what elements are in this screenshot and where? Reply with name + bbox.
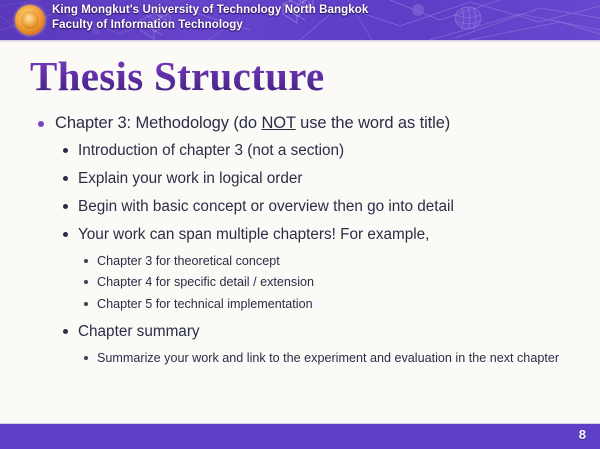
faculty-name: Faculty of Information Technology <box>52 18 368 33</box>
bullet-level2-basic-concept: Begin with basic concept or overview the… <box>0 197 600 217</box>
presentation-slide: King Mongkut's University of Technology … <box>0 0 600 449</box>
bullet-level3-chapter3: Chapter 3 for theoretical concept <box>0 253 600 270</box>
bullet-level2-chapter-summary: Chapter summary <box>0 322 600 342</box>
bullet-text: Chapter 3 for theoretical concept <box>97 253 570 270</box>
kmutnb-crest-logo <box>15 5 45 35</box>
slide-header-banner: King Mongkut's University of Technology … <box>0 0 600 40</box>
bullet-text: Chapter 3: Methodology (do NOT use the w… <box>55 113 582 134</box>
bullet-level2-logical-order: Explain your work in logical order <box>0 169 600 189</box>
bullet-dot-icon <box>63 204 68 209</box>
bullet-level3-summarize: Summarize your work and link to the expe… <box>0 350 600 367</box>
bullet-text: Your work can span multiple chapters! Fo… <box>78 225 582 245</box>
page-title: Thesis Structure <box>30 55 324 98</box>
bullet-text: Chapter 4 for specific detail / extensio… <box>97 274 570 291</box>
bullet-dot-icon <box>84 302 88 306</box>
header-divider <box>0 40 600 43</box>
bullet-text: Chapter summary <box>78 322 582 342</box>
slide-body-content: Chapter 3: Methodology (do NOT use the w… <box>0 113 600 371</box>
bullet-dot-icon <box>63 176 68 181</box>
bullet-text: Begin with basic concept or overview the… <box>78 197 582 217</box>
slide-footer-bar: 8 <box>0 423 600 449</box>
bullet-dot-icon <box>63 148 68 153</box>
header-institution-text: King Mongkut's University of Technology … <box>52 3 368 32</box>
bullet-dot-icon <box>84 356 88 360</box>
bullet-text: Summarize your work and link to the expe… <box>97 350 570 367</box>
bullet-level3-chapter5: Chapter 5 for technical implementation <box>0 296 600 313</box>
bullet-dot-icon <box>84 280 88 284</box>
bullet-level2-introduction: Introduction of chapter 3 (not a section… <box>0 141 600 161</box>
bullet-dot-icon <box>63 329 68 334</box>
bullet-level3-chapter4: Chapter 4 for specific detail / extensio… <box>0 274 600 291</box>
bullet-text: Introduction of chapter 3 (not a section… <box>78 141 582 161</box>
university-name: King Mongkut's University of Technology … <box>52 3 368 18</box>
bullet-text-after: use the word as title) <box>296 114 451 132</box>
bullet-text-emphasis: NOT <box>261 114 295 132</box>
bullet-level2-span-chapters: Your work can span multiple chapters! Fo… <box>0 225 600 245</box>
bullet-text-before: Chapter 3: Methodology (do <box>55 114 261 132</box>
bullet-text: Chapter 5 for technical implementation <box>97 296 570 313</box>
bullet-dot-icon <box>63 232 68 237</box>
bullet-dot-icon <box>38 121 44 127</box>
bullet-level1-methodology: Chapter 3: Methodology (do NOT use the w… <box>0 113 600 134</box>
page-number: 8 <box>579 427 586 442</box>
crest-inner-ring <box>21 11 39 29</box>
bullet-text: Explain your work in logical order <box>78 169 582 189</box>
bullet-dot-icon <box>84 259 88 263</box>
